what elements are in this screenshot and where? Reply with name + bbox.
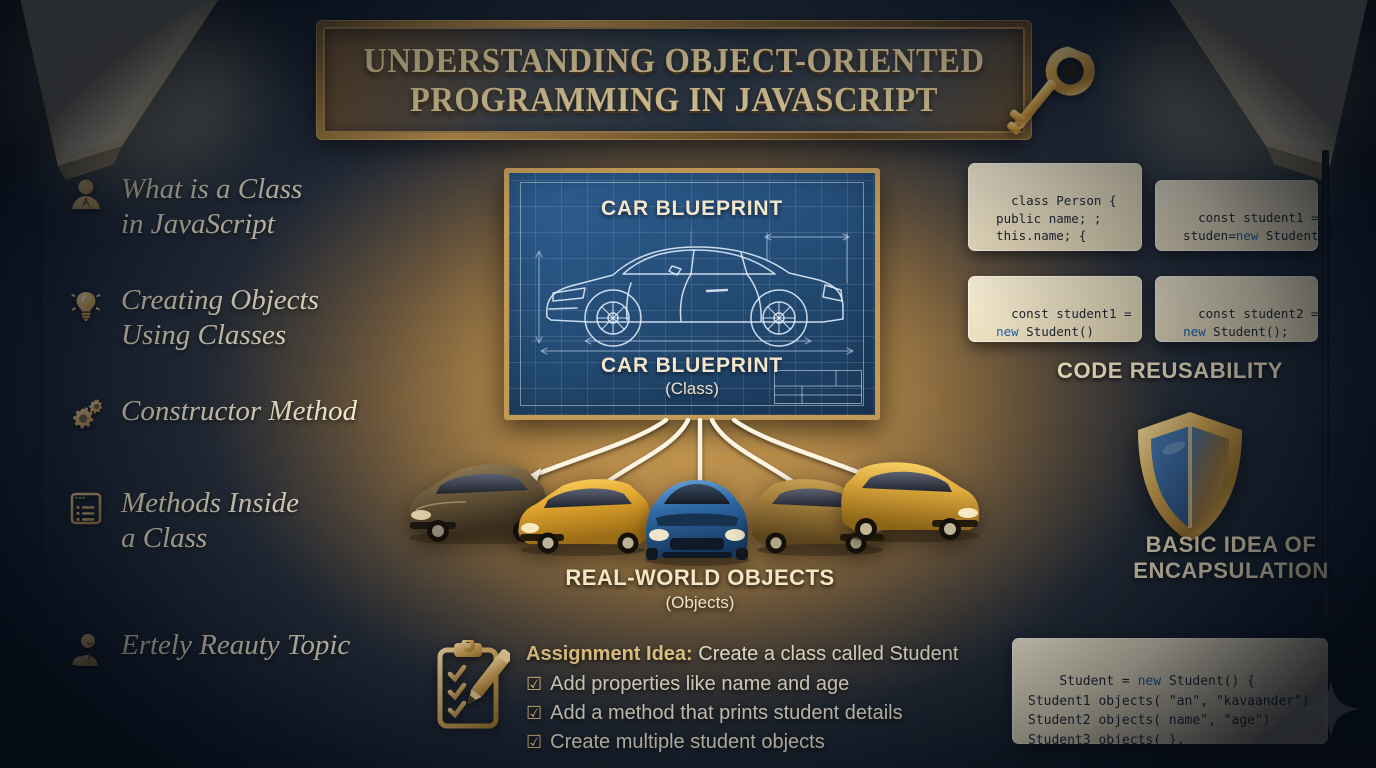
code-card-student1-a: const student1 = studen=new Student(); — [1155, 180, 1318, 251]
assignment-item-label: Add a method that prints student details — [550, 700, 902, 726]
code-card-student2: const student2 = new Student(); — [1155, 276, 1318, 342]
shield-icon — [1130, 408, 1250, 548]
blueprint-bottom-caption: CAR BLUEPRINT (Class) — [509, 354, 875, 399]
sidebar-label-line1: Ertely Reauty Topic — [121, 628, 350, 663]
sidebar-label-line1: Constructor Method — [121, 394, 357, 429]
topic-sidebar: What is a Class in JavaScript — [68, 172, 428, 668]
light-stand-left — [34, 200, 41, 620]
assignment-heading: Assignment Idea: Create a class called S… — [526, 642, 958, 668]
lightbulb-icon — [68, 287, 104, 323]
sparkle-icon — [1300, 678, 1362, 740]
title-banner: UNDERSTANDING OBJECT-ORIENTED PROGRAMMIN… — [316, 20, 1032, 140]
assignment-item-label: Add properties like name and age — [550, 671, 849, 697]
code-card-1-text: class Person { public name; ; this.name;… — [981, 193, 1116, 251]
sidebar-item-ertely-reauty-topic[interactable]: Ertely Reauty Topic — [68, 628, 428, 668]
encapsulation-line-1: BASIC IDEA OF — [1090, 532, 1372, 558]
sidebar-label-line2: a Class — [121, 521, 299, 556]
page-title-line-1: UNDERSTANDING OBJECT-ORIENTED — [363, 41, 984, 80]
code-card-student1-b: const student1 = new Student() — [968, 276, 1142, 342]
blueprint-bottom-subtitle: (Class) — [509, 379, 875, 399]
sidebar-label-line1: Methods Inside — [121, 486, 299, 521]
gears-icon — [68, 398, 104, 434]
encapsulation-label: BASIC IDEA OF ENCAPSULATION — [1090, 532, 1372, 584]
car-3 — [636, 472, 758, 566]
code-card-2-text: const student1 = studen=new Student(); — [1168, 210, 1318, 243]
checkbox-icon[interactable]: ☑ — [526, 731, 542, 754]
checkbox-icon[interactable]: ☑ — [526, 673, 542, 696]
code-card-student-objects: Student = new Student() { Student1 objec… — [1012, 638, 1328, 744]
code-card-class-person: class Person { public name; ; this.name;… — [968, 163, 1142, 251]
sidebar-item-label: Constructor Method — [121, 394, 357, 429]
sidebar-label-line2: in JavaScript — [121, 207, 302, 242]
assignment-heading-text: Create a class called Student — [693, 643, 959, 665]
user-icon — [68, 176, 104, 212]
code-card-3-text: const student1 = new Student() — [981, 306, 1132, 339]
code-card-4-text: const student2 = new Student(); — [1168, 306, 1318, 339]
clipboard-checklist-icon — [436, 640, 510, 730]
encapsulation-line-2: ENCAPSULATION — [1090, 558, 1372, 584]
sidebar-item-creating-objects[interactable]: Creating Objects Using Classes — [68, 283, 428, 354]
objects-label-main: REAL-WORLD OBJECTS — [520, 565, 880, 591]
sidebar-label-line1: Creating Objects — [121, 283, 319, 318]
assignment-text-block: Assignment Idea: Create a class called S… — [526, 636, 958, 755]
list-window-icon — [68, 490, 104, 526]
objects-label-sub: (Objects) — [520, 593, 880, 613]
blueprint-top-title: CAR BLUEPRINT — [509, 197, 875, 221]
sidebar-item-what-is-a-class[interactable]: What is a Class in JavaScript — [68, 172, 428, 243]
title-banner-inner: UNDERSTANDING OBJECT-ORIENTED PROGRAMMIN… — [323, 27, 1025, 133]
sidebar-item-label: Creating Objects Using Classes — [121, 283, 319, 354]
car-blueprint-panel: CAR BLUEPRINT — [504, 168, 880, 420]
assignment-section: Assignment Idea: Create a class called S… — [436, 636, 1006, 755]
infographic-canvas: UNDERSTANDING OBJECT-ORIENTED PROGRAMMIN… — [0, 0, 1376, 768]
sidebar-item-constructor-method[interactable]: Constructor Method — [68, 394, 428, 434]
real-world-objects-label: REAL-WORLD OBJECTS (Objects) — [520, 565, 880, 613]
assignment-item-label: Create multiple student objects — [550, 729, 825, 755]
assignment-item[interactable]: ☑ Create multiple student objects — [526, 729, 958, 755]
sidebar-item-label: Ertely Reauty Topic — [121, 628, 350, 663]
sidebar-item-methods-inside-a-class[interactable]: Methods Inside a Class — [68, 486, 428, 557]
blueprint-bottom-title: CAR BLUEPRINT — [509, 354, 875, 378]
car-5 — [834, 448, 992, 542]
code-reusability-label: CODE REUSABILITY — [1022, 358, 1318, 384]
assignment-item[interactable]: ☑ Add a method that prints student detai… — [526, 700, 958, 726]
sidebar-item-label: What is a Class in JavaScript — [121, 172, 302, 243]
code-card-5-text: Student = new Student() { Student1 objec… — [1028, 674, 1310, 744]
sidebar-label-line2: Using Classes — [121, 318, 319, 353]
assignment-item[interactable]: ☑ Add properties like name and age — [526, 671, 958, 697]
page-title-line-2: PROGRAMMING IN JAVASCRIPT — [410, 80, 938, 119]
checkbox-icon[interactable]: ☑ — [526, 702, 542, 725]
assignment-heading-label: Assignment Idea: — [526, 643, 693, 665]
teacher-icon — [68, 632, 104, 668]
sidebar-label-line1: What is a Class — [121, 172, 302, 207]
blueprint-car-drawing — [531, 225, 863, 363]
sidebar-item-label: Methods Inside a Class — [121, 486, 299, 557]
